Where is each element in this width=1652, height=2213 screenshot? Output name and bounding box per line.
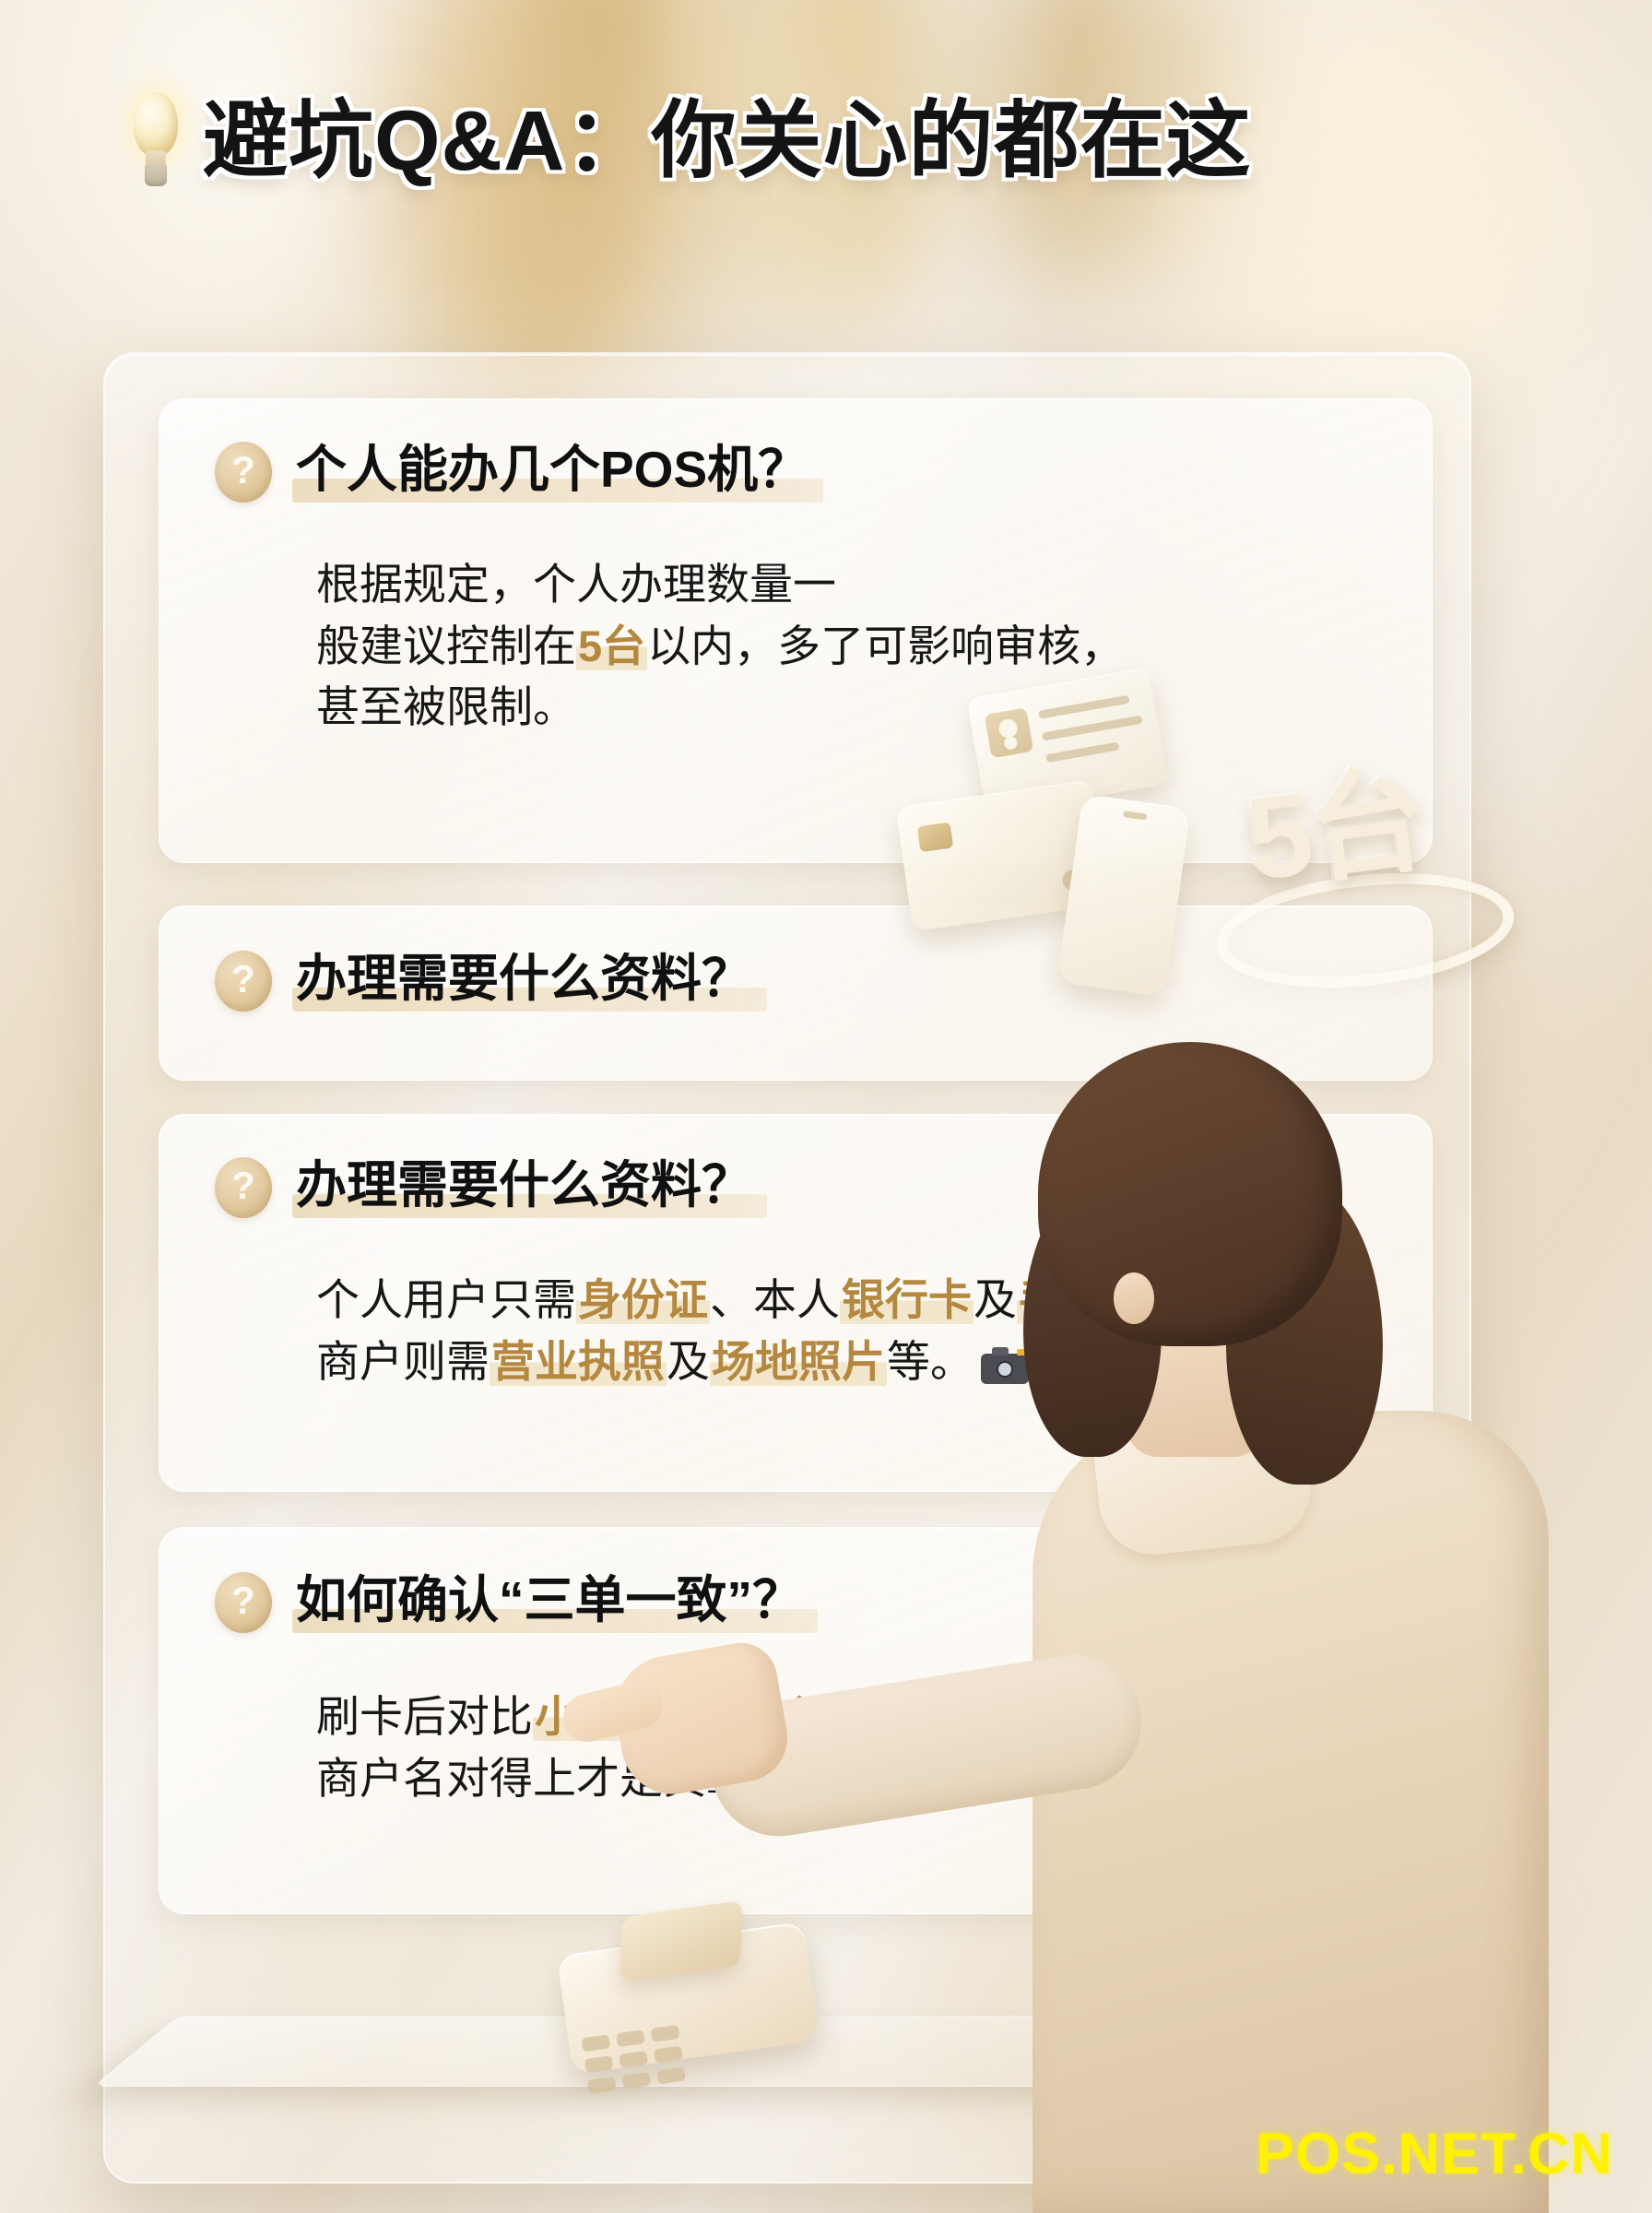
qa-question-row: ? 个人能办几个POS机？ <box>215 440 818 504</box>
poster-canvas: 避坑Q&A：你关心的都在这 ? 个人能办几个POS机？ 根据规定，个人办理数量一… <box>0 0 1652 2213</box>
lightbulb-icon <box>129 92 183 190</box>
question-mark-icon: ? <box>215 1572 272 1633</box>
page-title: 避坑Q&A：你关心的都在这 <box>203 99 1251 183</box>
question-mark-icon: ? <box>215 1157 272 1218</box>
qa-question-row: ? 办理需要什么资料？ <box>215 949 761 1013</box>
qa-question-text: 如何确认“三单一致”？ <box>292 1570 812 1635</box>
qa-question-text: 个人能办几个POS机？ <box>292 440 818 504</box>
highlight-term: 场地照片 <box>710 1337 887 1386</box>
answer-line: 般建议控制在5台以内，多了可影响审核， <box>316 616 1124 678</box>
highlight-term: 营业执照 <box>490 1337 667 1386</box>
five-units-label: 5台 <box>1241 762 1431 898</box>
character-illustration <box>922 1042 1652 2213</box>
qa-question-row: ? 如何确认“三单一致”？ <box>215 1570 812 1635</box>
question-mark-icon: ? <box>215 442 272 503</box>
qa-question-text: 办理需要什么资料？ <box>292 1155 761 1220</box>
site-watermark: POS.NET.CN <box>1256 2121 1613 2187</box>
background-light-streak <box>808 0 936 399</box>
page-header: 避坑Q&A：你关心的都在这 <box>129 92 1251 190</box>
qa-card-1[interactable]: ? 个人能办几个POS机？ 根据规定，个人办理数量一 般建议控制在5台以内，多了… <box>159 398 1433 863</box>
highlight-term: 身份证 <box>576 1275 710 1324</box>
qa-question-text: 办理需要什么资料？ <box>292 949 761 1013</box>
qa-question-row: ? 办理需要什么资料？ <box>215 1155 761 1220</box>
highlight-term: 5台 <box>576 621 647 670</box>
documents-3d-prop <box>903 682 1208 987</box>
question-mark-icon: ? <box>215 951 272 1012</box>
answer-line: 根据规定，个人办理数量一 <box>316 554 1124 616</box>
